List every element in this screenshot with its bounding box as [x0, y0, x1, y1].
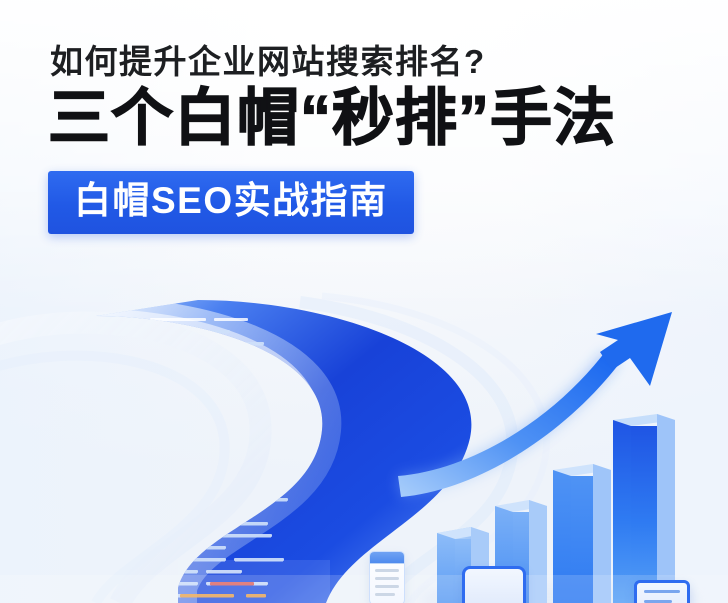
document-card-line — [375, 593, 395, 596]
page-title: 三个白帽“秒排”手法 — [48, 86, 708, 153]
document-card-line — [375, 585, 399, 588]
poster-canvas: 如何提升企业网站搜索排名? 三个白帽“秒排”手法 白帽SEO实战指南 — [0, 0, 728, 603]
kicker-text: 如何提升企业网站搜索排名? — [50, 42, 708, 82]
note-card — [634, 580, 690, 603]
note-card-line — [644, 590, 680, 593]
tablet-card — [462, 566, 526, 603]
bar-4 — [613, 414, 675, 603]
document-card-line — [375, 569, 399, 572]
headline-block: 如何提升企业网站搜索排名? 三个白帽“秒排”手法 白帽SEO实战指南 — [48, 42, 708, 234]
document-card — [369, 551, 405, 603]
status-badge: 白帽SEO实战指南 — [48, 171, 414, 234]
document-card-line — [375, 577, 399, 580]
document-card-header — [370, 552, 404, 564]
